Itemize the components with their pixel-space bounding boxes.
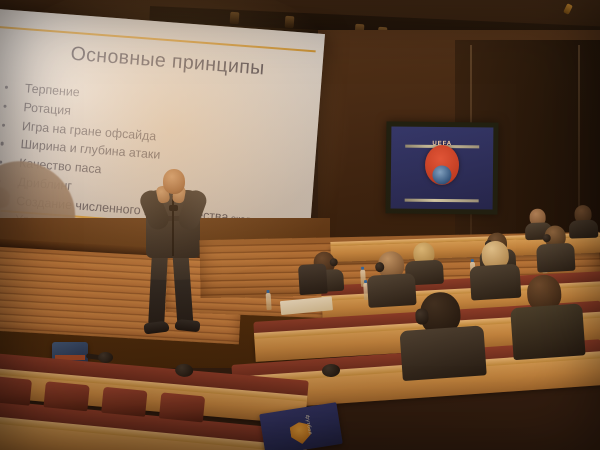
empty-seat[interactable] <box>159 392 205 422</box>
audience-body <box>469 264 521 301</box>
audience-body <box>569 220 599 239</box>
auditorium-photo: Основные принципы Терпение Ротация Игра … <box>0 0 600 450</box>
presenter-wristwatch <box>169 205 178 211</box>
ceiling-spotlight-2 <box>285 16 295 29</box>
audience-body <box>367 273 417 308</box>
audience-body <box>510 303 585 360</box>
slide-title: Основные принципы <box>70 43 266 81</box>
empty-seat[interactable] <box>101 387 147 417</box>
desk-monitor <box>298 263 328 295</box>
presenter-head <box>163 169 185 194</box>
audience-body <box>399 325 486 381</box>
uefa-logo-label: UEFA <box>391 140 493 147</box>
bullet-text: Ротация <box>23 100 71 118</box>
headphones-stage <box>98 352 113 363</box>
uefa-bar-bottom <box>405 199 478 203</box>
uefa-banner-frame: UEFA <box>386 121 499 214</box>
uefa-banner-panel: UEFA <box>391 126 494 209</box>
audience-body <box>536 243 575 273</box>
bullet-text: Терпение <box>24 81 80 99</box>
headphones-icon <box>415 308 429 325</box>
empty-seat[interactable] <box>0 376 32 406</box>
water-bottle <box>266 293 272 310</box>
uefa-globe-icon <box>432 165 451 184</box>
ceiling-spotlight-1 <box>230 12 240 25</box>
empty-seat[interactable] <box>43 381 89 411</box>
